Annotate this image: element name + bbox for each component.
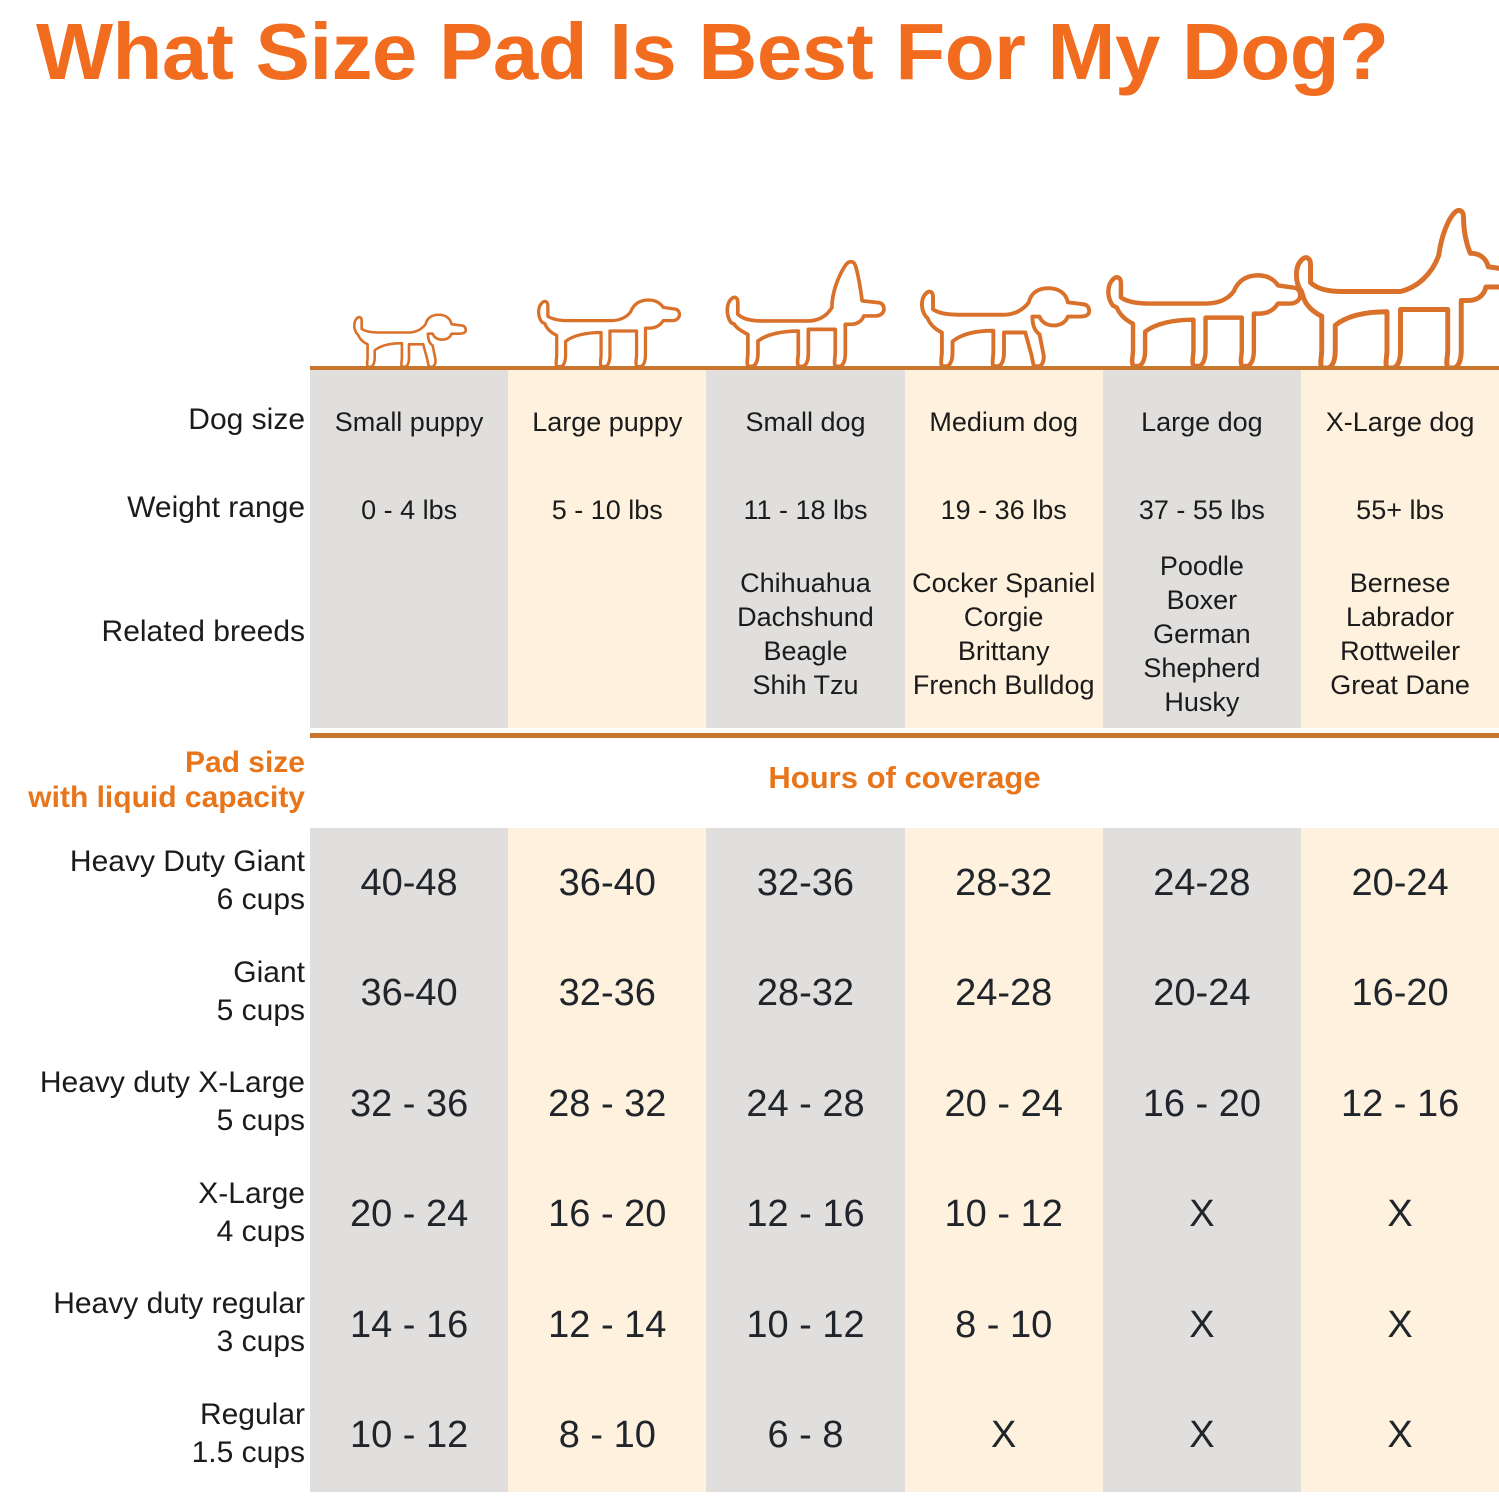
coverage-cell: 16 - 20 bbox=[508, 1160, 706, 1271]
pad-size-label: Heavy Duty Giant6 cups bbox=[70, 843, 305, 919]
coverage-cell: 20-24 bbox=[1103, 939, 1301, 1050]
pad-size-label: Giant5 cups bbox=[217, 954, 305, 1030]
breed-name: Shepherd bbox=[1143, 651, 1260, 685]
breed-name: Labrador bbox=[1346, 600, 1454, 634]
cell-related-breeds: Cocker SpanielCorgieBrittanyFrench Bulld… bbox=[905, 554, 1103, 714]
cell-dog-size: Small puppy bbox=[310, 396, 508, 448]
coverage-cell-unavailable: X bbox=[1103, 1160, 1301, 1271]
large-dog-icon bbox=[1103, 146, 1301, 368]
pad-size-label: Heavy duty X-Large5 cups bbox=[40, 1064, 305, 1140]
cell-related-breeds bbox=[508, 554, 706, 714]
page-title: What Size Pad Is Best For My Dog? bbox=[36, 6, 1499, 98]
breed-name: Bernese bbox=[1350, 566, 1451, 600]
pad-size-name: Giant bbox=[217, 954, 305, 992]
coverage-cell-unavailable: X bbox=[905, 1381, 1103, 1492]
cell-weight-range: 19 - 36 lbs bbox=[905, 484, 1103, 536]
dog-size-table: Dog sizeSmall puppyLarge puppySmall dogM… bbox=[0, 370, 1499, 728]
cell-dog-size: Medium dog bbox=[905, 396, 1103, 448]
pad-size-label: Heavy duty regular3 cups bbox=[53, 1285, 305, 1361]
coverage-cell: 10 - 12 bbox=[310, 1381, 508, 1492]
coverage-cell: 36-40 bbox=[310, 939, 508, 1050]
cell-dog-size: Small dog bbox=[706, 396, 904, 448]
row-label-weight-range: Weight range bbox=[127, 491, 305, 525]
coverage-cell-unavailable: X bbox=[1301, 1160, 1499, 1271]
coverage-cell: 20-24 bbox=[1301, 828, 1499, 939]
cell-dog-size: Large puppy bbox=[508, 396, 706, 448]
coverage-cell: 36-40 bbox=[508, 828, 706, 939]
coverage-cell: 14 - 16 bbox=[310, 1270, 508, 1381]
coverage-cell: 6 - 8 bbox=[706, 1381, 904, 1492]
x-large-dog-icon bbox=[1301, 146, 1499, 368]
breed-name: French Bulldog bbox=[913, 668, 1095, 702]
coverage-cell: 32 - 36 bbox=[310, 1049, 508, 1160]
cell-weight-range: 11 - 18 lbs bbox=[706, 484, 904, 536]
pad-size-capacity: 5 cups bbox=[217, 992, 305, 1030]
coverage-cell: 28-32 bbox=[706, 939, 904, 1050]
coverage-cell: 40-48 bbox=[310, 828, 508, 939]
pad-size-name: Heavy duty regular bbox=[53, 1285, 305, 1323]
coverage-cell: 28-32 bbox=[905, 828, 1103, 939]
pad-size-capacity: 6 cups bbox=[70, 881, 305, 919]
coverage-cell: 10 - 12 bbox=[905, 1160, 1103, 1271]
coverage-cell-unavailable: X bbox=[1103, 1381, 1301, 1492]
coverage-cell: 12 - 16 bbox=[1301, 1049, 1499, 1160]
breed-name: Shih Tzu bbox=[752, 668, 858, 702]
breed-name: Dachshund bbox=[737, 600, 874, 634]
breed-name: German bbox=[1153, 617, 1251, 651]
coverage-cell: 16 - 20 bbox=[1103, 1049, 1301, 1160]
coverage-cell: 20 - 24 bbox=[905, 1049, 1103, 1160]
pad-size-label: Regular1.5 cups bbox=[192, 1396, 305, 1472]
coverage-cell: 24-28 bbox=[1103, 828, 1301, 939]
coverage-cell: 24-28 bbox=[905, 939, 1103, 1050]
pad-size-capacity: 5 cups bbox=[40, 1102, 305, 1140]
cell-related-breeds: BerneseLabradorRottweilerGreat Dane bbox=[1301, 554, 1499, 714]
cell-related-breeds: PoodleBoxerGermanShepherdHusky bbox=[1103, 554, 1301, 714]
cell-weight-range: 55+ lbs bbox=[1301, 484, 1499, 536]
hours-of-coverage-header: Hours of coverage bbox=[310, 760, 1499, 796]
breed-name: Brittany bbox=[958, 634, 1050, 668]
pad-size-capacity: 3 cups bbox=[53, 1323, 305, 1361]
cell-weight-range: 5 - 10 lbs bbox=[508, 484, 706, 536]
cell-related-breeds: ChihuahuaDachshundBeagleShih Tzu bbox=[706, 554, 904, 714]
coverage-cell-unavailable: X bbox=[1301, 1270, 1499, 1381]
pad-size-label: X-Large4 cups bbox=[198, 1175, 305, 1251]
coverage-cell: 12 - 16 bbox=[706, 1160, 904, 1271]
pad-size-capacity: 4 cups bbox=[198, 1213, 305, 1251]
pad-size-name: X-Large bbox=[198, 1175, 305, 1213]
breed-name: Cocker Spaniel bbox=[912, 566, 1095, 600]
coverage-cell-unavailable: X bbox=[1103, 1270, 1301, 1381]
coverage-cell-unavailable: X bbox=[1301, 1381, 1499, 1492]
coverage-cell: 32-36 bbox=[706, 828, 904, 939]
pad-size-name: Regular bbox=[192, 1396, 305, 1434]
pad-size-header: Pad size with liquid capacity bbox=[28, 745, 305, 815]
coverage-cell: 8 - 10 bbox=[905, 1270, 1103, 1381]
breed-name: Poodle bbox=[1160, 549, 1244, 583]
small-puppy-dog-icon bbox=[310, 146, 508, 368]
large-puppy-dog-icon bbox=[508, 146, 706, 368]
coverage-cell: 24 - 28 bbox=[706, 1049, 904, 1160]
breed-name: Rottweiler bbox=[1340, 634, 1460, 668]
cell-dog-size: Large dog bbox=[1103, 396, 1301, 448]
breed-name: Boxer bbox=[1167, 583, 1238, 617]
cell-dog-size: X-Large dog bbox=[1301, 396, 1499, 448]
section-divider bbox=[310, 733, 1499, 738]
pad-size-header-line2: with liquid capacity bbox=[28, 780, 305, 815]
cell-weight-range: 0 - 4 lbs bbox=[310, 484, 508, 536]
breed-name: Chihuahua bbox=[740, 566, 871, 600]
coverage-table: Heavy Duty Giant6 cups40-4836-4032-3628-… bbox=[0, 828, 1499, 1492]
coverage-cell: 32-36 bbox=[508, 939, 706, 1050]
coverage-cell: 16-20 bbox=[1301, 939, 1499, 1050]
breed-name: Husky bbox=[1164, 685, 1239, 719]
row-label-related-breeds: Related breeds bbox=[102, 615, 305, 649]
cell-weight-range: 37 - 55 lbs bbox=[1103, 484, 1301, 536]
pad-size-name: Heavy duty X-Large bbox=[40, 1064, 305, 1102]
row-label-dog-size: Dog size bbox=[188, 403, 305, 437]
pad-size-header-line1: Pad size bbox=[28, 745, 305, 780]
small-dog-icon bbox=[706, 146, 904, 368]
breed-name: Corgie bbox=[964, 600, 1044, 634]
pad-size-name: Heavy Duty Giant bbox=[70, 843, 305, 881]
coverage-cell: 10 - 12 bbox=[706, 1270, 904, 1381]
coverage-cell: 8 - 10 bbox=[508, 1381, 706, 1492]
coverage-cell: 20 - 24 bbox=[310, 1160, 508, 1271]
dog-silhouette-strip bbox=[310, 150, 1499, 372]
coverage-cell: 28 - 32 bbox=[508, 1049, 706, 1160]
cell-related-breeds bbox=[310, 554, 508, 714]
medium-dog-icon bbox=[905, 146, 1103, 368]
pad-size-capacity: 1.5 cups bbox=[192, 1434, 305, 1472]
breed-name: Beagle bbox=[763, 634, 847, 668]
breed-name: Great Dane bbox=[1330, 668, 1470, 702]
coverage-cell: 12 - 14 bbox=[508, 1270, 706, 1381]
